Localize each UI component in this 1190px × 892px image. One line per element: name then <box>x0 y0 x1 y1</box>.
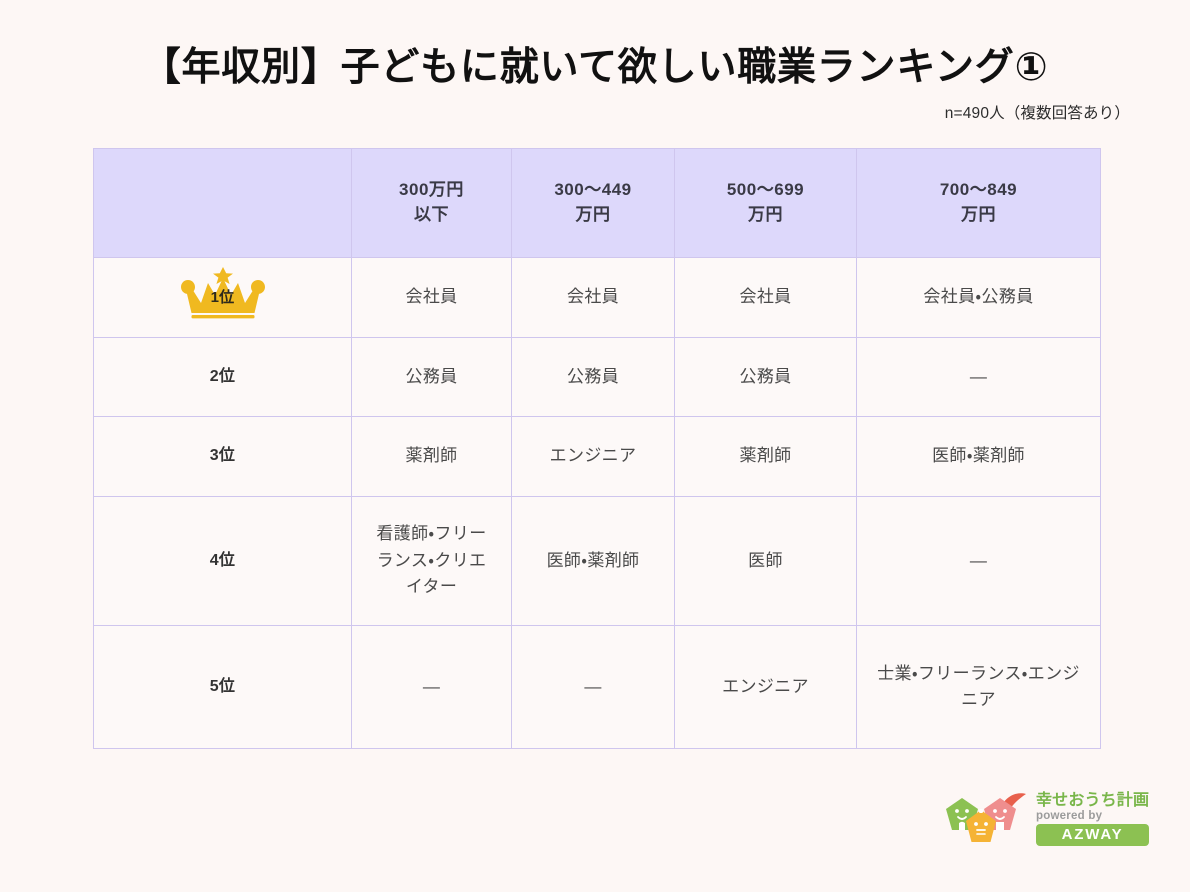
azway-badge: AZWAY <box>1036 824 1149 846</box>
rank-label-1: 1位 <box>180 264 266 322</box>
column-header-300-449-line2: 万円 <box>518 203 668 228</box>
column-header-under-300-line1: 300万円 <box>358 178 505 203</box>
column-header-300-449-line1: 300〜449 <box>518 178 668 203</box>
cell-rank3-500-699: 薬剤師 <box>675 417 857 497</box>
sample-size-note: n=490人（複数回答あり） <box>945 101 1130 123</box>
column-header-700-849-line1: 700〜849 <box>863 178 1094 203</box>
ranking-table: 300万円 以下 300〜449 万円 500〜699 万円 700〜849 万… <box>93 148 1101 749</box>
cell-rank4-500-699: 医師 <box>675 497 857 626</box>
column-header-under-300: 300万円 以下 <box>352 149 512 258</box>
column-header-700-849-line2: 万円 <box>863 203 1094 228</box>
cell-rank2-under300: 公務員 <box>352 338 512 417</box>
cell-rank1-300-449: 会社員 <box>512 258 675 338</box>
brand-logo: 幸せおうち計画 powered by AZWAY <box>944 786 1154 852</box>
cell-rank2-300-449: 公務員 <box>512 338 675 417</box>
column-header-300-449: 300〜449 万円 <box>512 149 675 258</box>
rank-cell-5: 5位 <box>94 626 352 749</box>
crown-icon: 1位 <box>180 264 266 322</box>
rank-cell-3: 3位 <box>94 417 352 497</box>
column-header-under-300-line2: 以下 <box>358 203 505 228</box>
cell-rank3-700-849: 医師・薬剤師 <box>857 417 1101 497</box>
column-header-500-699-line2: 万円 <box>681 203 850 228</box>
table-header: 300万円 以下 300〜449 万円 500〜699 万円 700〜849 万… <box>94 149 1101 258</box>
rank-cell-1: 1位 <box>94 258 352 338</box>
cell-rank5-500-699: エンジニア <box>675 626 857 749</box>
cell-rank3-under300: 薬剤師 <box>352 417 512 497</box>
powered-by-label: powered by <box>1036 810 1149 823</box>
rank-cell-4: 4位 <box>94 497 352 626</box>
cell-rank4-under300: 看護師・フリーランス・クリエイター <box>352 497 512 626</box>
column-header-rank <box>94 149 352 258</box>
cell-rank5-under300: ― <box>352 626 512 749</box>
cell-rank4-under300-text: 看護師・フリーランス・クリエイター <box>372 521 492 600</box>
column-header-700-849: 700〜849 万円 <box>857 149 1101 258</box>
cell-rank4-300-449: 医師・薬剤師 <box>512 497 675 626</box>
brand-logo-text: 幸せおうち計画 powered by AZWAY <box>1036 792 1149 846</box>
column-header-500-699-line1: 500〜699 <box>681 178 850 203</box>
table-body: 1位 会社員 会社員 会社員 会社員・公務員 2位 公務員 公務員 公務員 ― … <box>94 258 1101 749</box>
houses-logo-icon <box>944 790 1030 848</box>
table-row: 1位 会社員 会社員 会社員 会社員・公務員 <box>94 258 1101 338</box>
cell-rank5-700-849-text: 士業・フリーランス・エンジニア <box>876 661 1081 714</box>
table-header-row: 300万円 以下 300〜449 万円 500〜699 万円 700〜849 万… <box>94 149 1101 258</box>
table-row: 2位 公務員 公務員 公務員 ― <box>94 338 1101 417</box>
cell-rank1-under300: 会社員 <box>352 258 512 338</box>
cell-rank2-700-849: ― <box>857 338 1101 417</box>
rank-cell-2: 2位 <box>94 338 352 417</box>
table-row: 3位 薬剤師 エンジニア 薬剤師 医師・薬剤師 <box>94 417 1101 497</box>
cell-rank5-700-849: 士業・フリーランス・エンジニア <box>857 626 1101 749</box>
column-header-500-699: 500〜699 万円 <box>675 149 857 258</box>
table-row: 4位 看護師・フリーランス・クリエイター 医師・薬剤師 医師 ― <box>94 497 1101 626</box>
cell-rank2-500-699: 公務員 <box>675 338 857 417</box>
cell-rank5-300-449: ― <box>512 626 675 749</box>
page-title: 【年収別】子どもに就いて欲しい職業ランキング① <box>0 36 1190 92</box>
brand-name: 幸せおうち計画 <box>1036 792 1149 810</box>
cell-rank3-300-449: エンジニア <box>512 417 675 497</box>
table-row: 5位 ― ― エンジニア 士業・フリーランス・エンジニア <box>94 626 1101 749</box>
cell-rank1-500-699: 会社員 <box>675 258 857 338</box>
cell-rank4-700-849: ― <box>857 497 1101 626</box>
cell-rank1-700-849: 会社員・公務員 <box>857 258 1101 338</box>
